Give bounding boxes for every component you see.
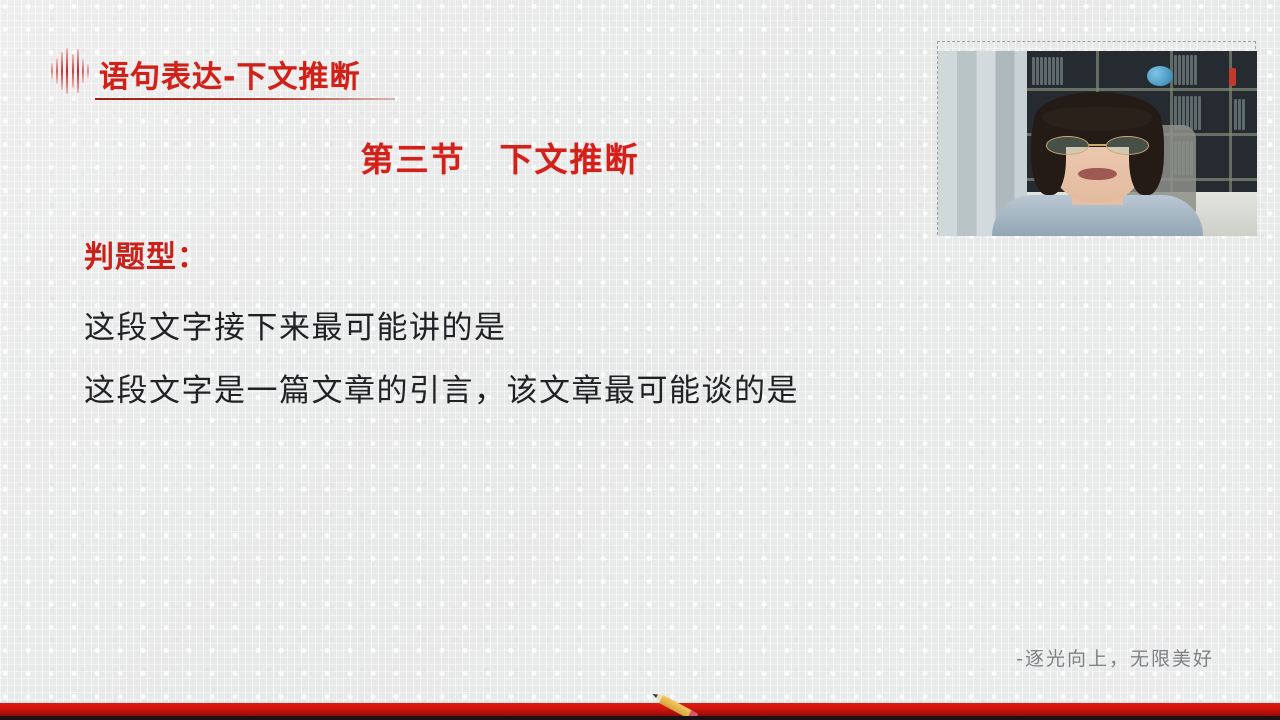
header-divider	[95, 98, 395, 100]
header-title: 语句表达-下文推断	[99, 52, 360, 96]
instructor-figure	[938, 51, 1257, 236]
subheading-question-type: 判题型：	[84, 232, 208, 276]
webcam-selection-frame[interactable]	[937, 41, 1256, 235]
bottom-accent-bar	[0, 703, 1280, 716]
bottom-edge-bar	[0, 716, 1280, 720]
body-line: 这段文字是一篇文章的引言，该文章最可能谈的是	[84, 365, 799, 410]
footer-motto: -逐光向上，无限美好	[1016, 644, 1214, 671]
body-line: 这段文字接下来最可能讲的是	[84, 302, 507, 347]
slide-canvas: 语句表达-下文推断 第三节下文推断 判题型： 这段文字接下来最可能讲的是 这段文…	[0, 0, 1280, 720]
waveform-icon	[51, 48, 89, 94]
section-number: 第三节	[361, 140, 466, 179]
instructor-webcam-video[interactable]	[938, 51, 1257, 236]
page-title: 第三节下文推断	[0, 133, 1000, 181]
section-name: 下文推断	[500, 140, 640, 179]
slide-header: 语句表达-下文推断	[0, 0, 640, 120]
glasses-icon	[1046, 136, 1148, 155]
